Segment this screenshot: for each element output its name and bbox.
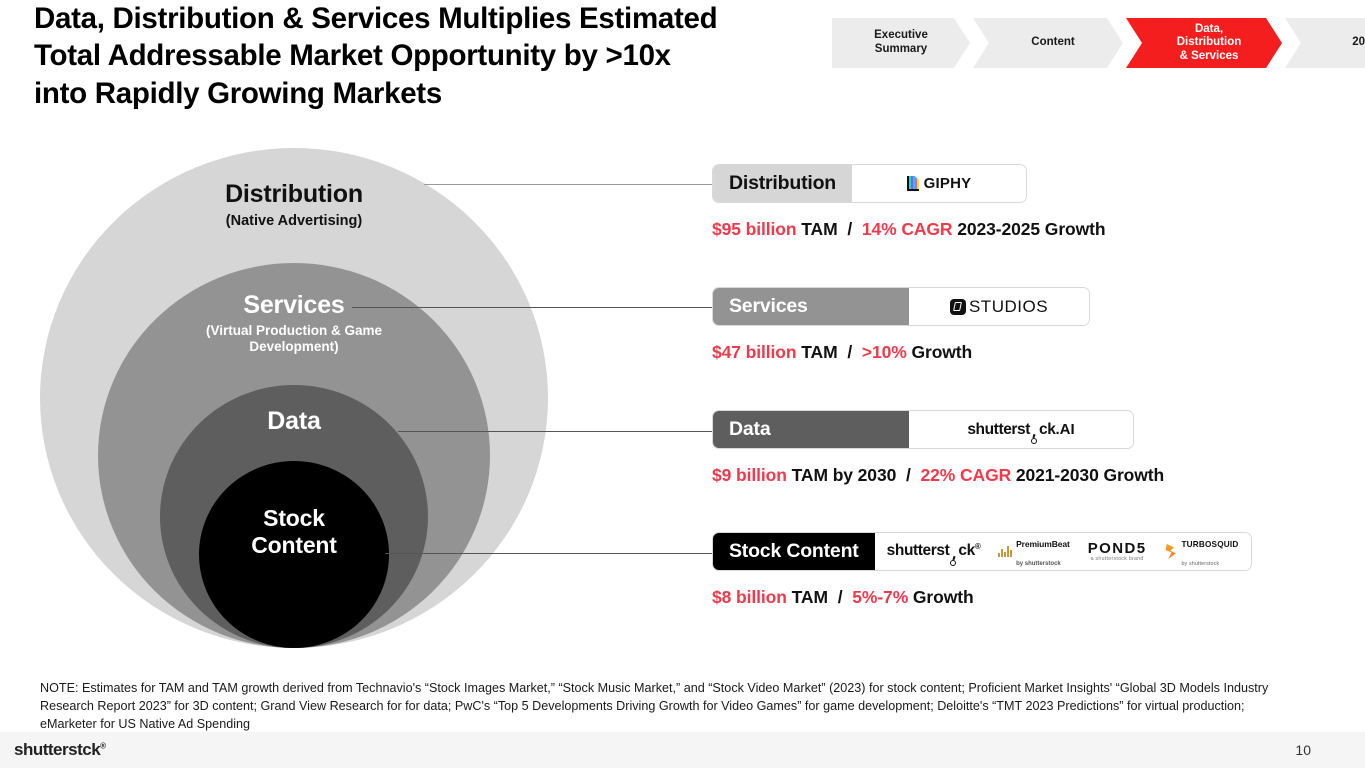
premiumbeat-text: PremiumBeat by shutterstock xyxy=(1016,534,1070,569)
metrics-distribution: $95 billion TAM / 14% CAGR 2023-2025 Gro… xyxy=(712,219,1332,240)
connector-line-data xyxy=(398,431,712,432)
turbosquid-byline: by shutterstock xyxy=(1181,561,1219,567)
page-title: Data, Distribution & Services Multiplies… xyxy=(34,0,824,112)
footer-shutterstock-logo: shutterstck® xyxy=(14,740,106,760)
turbosquid-name: TURBOSQUID xyxy=(1181,540,1238,549)
breadcrumb-item-label-2: Distribution xyxy=(1177,36,1242,50)
tam-value-stock-content: $8 billion xyxy=(712,587,787,607)
giphy-mark-icon xyxy=(907,176,919,191)
footer-bar: shutterstck® 10 xyxy=(0,732,1365,768)
turbosquid-text: TURBOSQUID by shutterstock xyxy=(1181,534,1238,569)
tam-value-services: $47 billion xyxy=(712,342,796,362)
page-number: 10 xyxy=(1295,742,1311,758)
tam-value-data: $9 billion xyxy=(712,465,787,485)
registered-mark: ® xyxy=(975,542,981,551)
tam-suffix-stock-content: TAM xyxy=(792,587,828,607)
breadcrumb-item-label: Content xyxy=(1031,36,1074,50)
circle-stock-content: Stock Content xyxy=(199,461,389,648)
shutterstock-wordmark: shutterstck® xyxy=(887,542,981,560)
circle-stock-content-label: Stock Content xyxy=(199,505,389,558)
premiumbeat-byline: by shutterstock xyxy=(1016,561,1061,567)
tam-suffix-data: TAM by 2030 xyxy=(792,465,897,485)
breadcrumb-item-label: 2027 xyxy=(1352,36,1365,50)
pill-logos-stock-content: shutterstck® PremiumBeat by shutterstock… xyxy=(875,533,1251,570)
pillbar-data: Data shutterstck .AI xyxy=(712,410,1134,449)
growth-value-stock-content: 5%-7% xyxy=(852,587,908,607)
studios-mark-icon xyxy=(950,299,966,315)
pill-logos-services: STUDIOS xyxy=(909,288,1089,325)
page-title-line-3: into Rapidly Growing Markets xyxy=(34,75,824,112)
premiumbeat-bars-icon xyxy=(998,546,1012,557)
growth-value-distribution: 14% CAGR xyxy=(862,219,953,239)
circle-distribution-label: Distribution (Native Advertising) xyxy=(40,180,548,230)
page-title-line-2: Total Addressable Market Opportunity by … xyxy=(34,37,824,74)
studios-logo: STUDIOS xyxy=(950,297,1048,317)
footer-brand-part-1: shutterst xyxy=(14,740,82,759)
pill-label-services: Services xyxy=(713,288,909,325)
shutterstock-logo: shutterstck® xyxy=(887,542,981,560)
growth-suffix-data: 2021-2030 Growth xyxy=(1016,465,1164,485)
metrics-separator: / xyxy=(833,587,848,607)
growth-value-data: 22% CAGR xyxy=(921,465,1012,485)
connector-line-distribution xyxy=(424,184,712,185)
breadcrumb-item-label-2: Summary xyxy=(874,43,928,57)
pill-label-distribution: Distribution xyxy=(713,165,852,202)
market-row-services: Services STUDIOS $47 billion TAM / >10% … xyxy=(712,287,1332,363)
connector-line-stock-content xyxy=(385,553,712,554)
pillbar-stock-content: Stock Content shutterstck® PremiumBeat b… xyxy=(712,532,1252,571)
pill-logos-distribution: GIPHY xyxy=(852,165,1026,202)
pillbar-services: Services STUDIOS xyxy=(712,287,1090,326)
breadcrumb-item-label: Data, xyxy=(1177,23,1242,37)
shutterstock-word-part-2: ck xyxy=(958,543,974,560)
footnote: NOTE: Estimates for TAM and TAM growth d… xyxy=(40,680,1275,734)
shutterstock-ai-wordmark: shutterstck xyxy=(967,421,1055,439)
pond5-name: POND5 xyxy=(1088,541,1147,557)
circle-services-subtitle: (Virtual Production & Game Development) xyxy=(187,323,402,354)
tam-suffix-services: TAM xyxy=(801,342,837,362)
shutterstock-word-part-1: shutterst xyxy=(887,543,950,560)
breadcrumb-item-2027[interactable]: 2027 xyxy=(1285,18,1365,68)
tam-suffix-distribution: TAM xyxy=(801,219,837,239)
metrics-separator: / xyxy=(901,465,916,485)
growth-value-services: >10% xyxy=(862,342,907,362)
shutterstock-ai-suffix: .AI xyxy=(1056,421,1075,438)
circle-distribution-subtitle: (Native Advertising) xyxy=(40,213,548,230)
premiumbeat-name: PremiumBeat xyxy=(1016,539,1070,549)
turbosquid-mark-icon xyxy=(1164,544,1177,559)
page-title-line-1: Data, Distribution & Services Multiplies… xyxy=(34,0,824,37)
breadcrumb-item-executive-summary[interactable]: Executive Summary xyxy=(832,18,970,68)
metrics-separator: / xyxy=(842,342,857,362)
circle-stock-content-title: Stock xyxy=(199,505,389,532)
breadcrumb-item-label-3: & Services xyxy=(1177,50,1242,64)
studios-logo-text: STUDIOS xyxy=(969,297,1048,317)
footer-brand-part-2: ck xyxy=(82,740,100,759)
shutterstock-ai-logo: shutterstck .AI xyxy=(967,421,1074,439)
premiumbeat-logo: PremiumBeat by shutterstock xyxy=(998,534,1069,569)
market-row-distribution: Distribution GIPHY $95 billion TAM / 14%… xyxy=(712,164,1332,240)
pond5-logo: POND5 a shutterstock brand xyxy=(1088,541,1147,562)
breadcrumb-item-data-distribution-services[interactable]: Data, Distribution & Services xyxy=(1126,18,1282,68)
shutterstock-ai-word-part-2: ck xyxy=(1039,421,1055,438)
pillbar-distribution: Distribution GIPHY xyxy=(712,164,1027,203)
market-row-stock-content: Stock Content shutterstck® PremiumBeat b… xyxy=(712,532,1332,608)
turbosquid-logo: TURBOSQUID by shutterstock xyxy=(1164,534,1238,569)
metrics-services: $47 billion TAM / >10% Growth xyxy=(712,342,1332,363)
market-row-data: Data shutterstck .AI $9 billion TAM by 2… xyxy=(712,410,1332,486)
circle-stock-content-title-2: Content xyxy=(199,532,389,559)
metrics-stock-content: $8 billion TAM / 5%-7% Growth xyxy=(712,587,1332,608)
growth-suffix-stock-content: Growth xyxy=(913,587,974,607)
breadcrumb-item-label: Executive xyxy=(874,29,928,43)
growth-suffix-services: Growth xyxy=(911,342,972,362)
pond5-byline: a shutterstock brand xyxy=(1091,557,1144,562)
nested-circles-diagram: Distribution (Native Advertising) Servic… xyxy=(40,148,552,648)
pill-label-stock-content: Stock Content xyxy=(713,533,875,570)
connector-line-services xyxy=(352,307,712,308)
registered-mark: ® xyxy=(100,741,105,750)
giphy-logo-text: GIPHY xyxy=(924,175,972,192)
breadcrumb-item-content[interactable]: Content xyxy=(973,18,1123,68)
shutterstock-ai-word-part-1: shutterst xyxy=(967,421,1030,438)
metrics-data: $9 billion TAM by 2030 / 22% CAGR 2021-2… xyxy=(712,465,1332,486)
pill-label-data: Data xyxy=(713,411,909,448)
pill-logos-data: shutterstck .AI xyxy=(909,411,1133,448)
growth-suffix-distribution: 2023-2025 Growth xyxy=(957,219,1105,239)
metrics-separator: / xyxy=(842,219,857,239)
giphy-logo: GIPHY xyxy=(907,175,972,192)
breadcrumb: Executive Summary Content Data, Distribu… xyxy=(832,18,1365,68)
tam-value-distribution: $95 billion xyxy=(712,219,796,239)
